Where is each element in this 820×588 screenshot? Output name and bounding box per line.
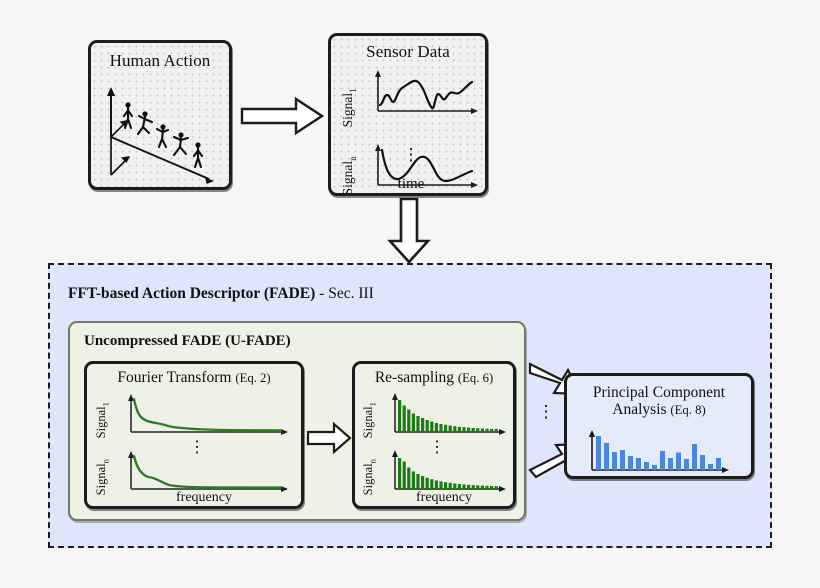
sensor-xaxis-label: time: [331, 176, 491, 193]
sensor-signal1-chart: [373, 69, 483, 119]
resampling-title: Re-sampling (Eq. 6): [355, 369, 513, 387]
ufade-title: Uncompressed FADE (U-FADE): [84, 333, 291, 350]
block-arrow-down-icon: [385, 197, 433, 265]
pca-components-chart: [585, 428, 739, 476]
fade-title-section: - Sec. III: [315, 285, 374, 302]
fourier-signal1-chart: [125, 392, 297, 440]
pca-box[interactable]: Principal Component Analysis (Eq. 8): [564, 373, 754, 479]
ufade-box[interactable]: Uncompressed FADE (U-FADE) Fourier Trans…: [68, 321, 526, 521]
sensor-data-title: Sensor Data: [331, 42, 485, 62]
sensor-data-box[interactable]: Sensor Data Signal1 ⋮ Signaln time: [328, 33, 488, 196]
fourier-transform-title: Fourier Transform (Eq. 2): [87, 369, 301, 387]
fade-title: FFT-based Action Descriptor (FADE) - Sec…: [68, 285, 374, 303]
fade-title-bold: FFT-based Action Descriptor (FADE): [68, 285, 315, 302]
resampling-box[interactable]: Re-sampling (Eq. 6) Signal1: [352, 361, 516, 509]
figure-canvas: Human Action: [0, 0, 820, 588]
resampling-signal1-chart: [389, 392, 513, 440]
sensor-signal1-label: Signal1: [340, 79, 358, 137]
block-arrow-right-icon: [240, 95, 326, 137]
block-arrow-right-icon: [306, 421, 352, 455]
pca-title: Principal Component Analysis (Eq. 8): [567, 384, 751, 419]
stick-figures-timeline-icon: [97, 75, 229, 187]
human-action-title: Human Action: [91, 51, 229, 71]
fourier-xaxis-label: frequency: [101, 490, 307, 506]
fourier-transform-box[interactable]: Fourier Transform (Eq. 2) Signal1 ⋮ Sign…: [84, 361, 304, 509]
human-action-box[interactable]: Human Action: [88, 40, 232, 190]
resampling-xaxis-label: frequency: [369, 490, 519, 506]
fade-container[interactable]: FFT-based Action Descriptor (FADE) - Sec…: [48, 263, 772, 548]
ufade-to-pca-ellipsis: ⋮: [536, 403, 556, 420]
